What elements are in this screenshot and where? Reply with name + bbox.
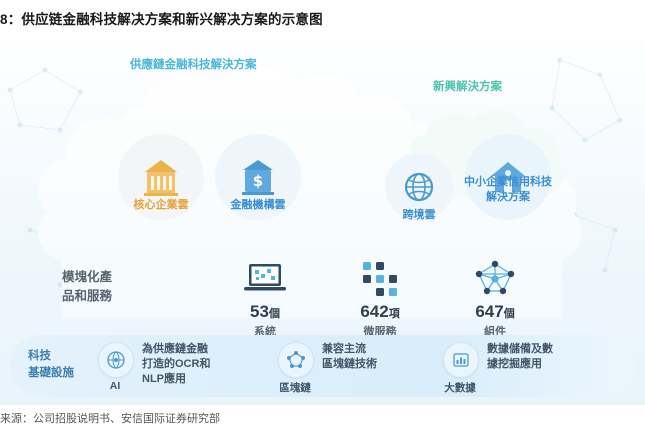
infra-ai-line1: 為供應鏈金融 [142, 342, 210, 357]
infra-bigdata-line2: 據挖掘應用 [487, 357, 553, 372]
stat-systems: 53個 系統 [205, 258, 325, 339]
stat-microservices-unit: 項 [389, 308, 400, 320]
bubble-label-financial-institution-cloud: 金融機構雲 [192, 198, 324, 213]
stat-components: 647個 組件 [435, 258, 555, 339]
infra-item-ai[interactable]: AI 為供應鏈金融 打造的OCR和 NLP應用 [98, 342, 210, 387]
tech-infrastructure-title: 科技 基礎設施 [28, 348, 108, 383]
modular-label-line1: 模塊化產 [62, 268, 172, 287]
stat-microservices-number: 642 [360, 302, 388, 321]
infra-bigdata-line1: 數據儲備及數 [487, 342, 553, 357]
component-network-icon [435, 258, 555, 298]
bank-dollar-icon: $ [235, 154, 281, 200]
modular-products-label: 模塊化產 品和服務 [62, 268, 172, 306]
infra-item-bigdata-sub: 大數據 [443, 380, 477, 395]
infra-item-blockchain-sub: 區塊鏈 [278, 380, 312, 395]
stat-systems-number: 53 [250, 302, 269, 321]
globe-icon [399, 167, 439, 207]
blockchain-icon: 區塊鏈 [278, 342, 314, 378]
infra-item-blockchain-text: 兼容主流 區塊鏈技術 [322, 342, 377, 372]
main-cloud-label: 供應鏈金融科技解決方案 [130, 56, 257, 72]
stat-systems-value: 53個 [205, 302, 325, 322]
infra-ai-line3: NLP應用 [142, 372, 210, 387]
stat-microservices: 642項 微服務 [320, 258, 440, 339]
infra-item-ai-sub: AI [98, 380, 132, 392]
source-footer: 来源：公司招股说明书、安信国际证券研究部 [0, 410, 220, 426]
building-icon [138, 154, 184, 200]
ai-brain-icon: AI [98, 342, 134, 378]
svg-text:$: $ [253, 172, 263, 190]
infra-item-blockchain[interactable]: 區塊鏈 兼容主流 區塊鏈技術 [278, 342, 377, 378]
stat-systems-unit: 個 [269, 308, 280, 320]
laptop-icon [205, 258, 325, 298]
infra-blockchain-line2: 區塊鏈技術 [322, 357, 377, 372]
stat-components-unit: 個 [504, 308, 515, 320]
infra-item-ai-text: 為供應鏈金融 打造的OCR和 NLP應用 [142, 342, 210, 387]
infra-blockchain-line1: 兼容主流 [322, 342, 377, 357]
modular-label-line2: 品和服務 [62, 287, 172, 306]
bubble-label-cross-border-cloud: 跨境雲 [369, 208, 469, 223]
bubble-label-sme-credit-tech: 中小企業信用科技 解決方案 [447, 175, 569, 205]
page-title: 8：供应链金融科技解决方案和新兴解决方案的示意图 [0, 8, 323, 28]
bubble-label-sme-line2: 解決方案 [486, 191, 530, 203]
microservice-icon [320, 258, 440, 298]
infra-item-bigdata[interactable]: 大數據 數據儲備及數 據挖掘應用 [443, 342, 553, 378]
infra-item-bigdata-text: 數據儲備及數 據挖掘應用 [487, 342, 553, 372]
stat-components-number: 647 [475, 302, 503, 321]
infra-title-line2: 基礎設施 [28, 365, 108, 382]
diagram-canvas: 供應鏈金融科技解決方案 新興解決方案 核心企業雲 $ 金融機構雲 [0, 30, 645, 405]
stat-microservices-value: 642項 [320, 302, 440, 322]
infra-title-line1: 科技 [28, 348, 108, 365]
secondary-cloud-label: 新興解決方案 [433, 78, 502, 94]
bigdata-icon: 大數據 [443, 342, 479, 378]
bubble-label-sme-line1: 中小企業信用科技 [464, 176, 552, 188]
stat-components-value: 647個 [435, 302, 555, 322]
infra-ai-line2: 打造的OCR和 [142, 357, 210, 372]
